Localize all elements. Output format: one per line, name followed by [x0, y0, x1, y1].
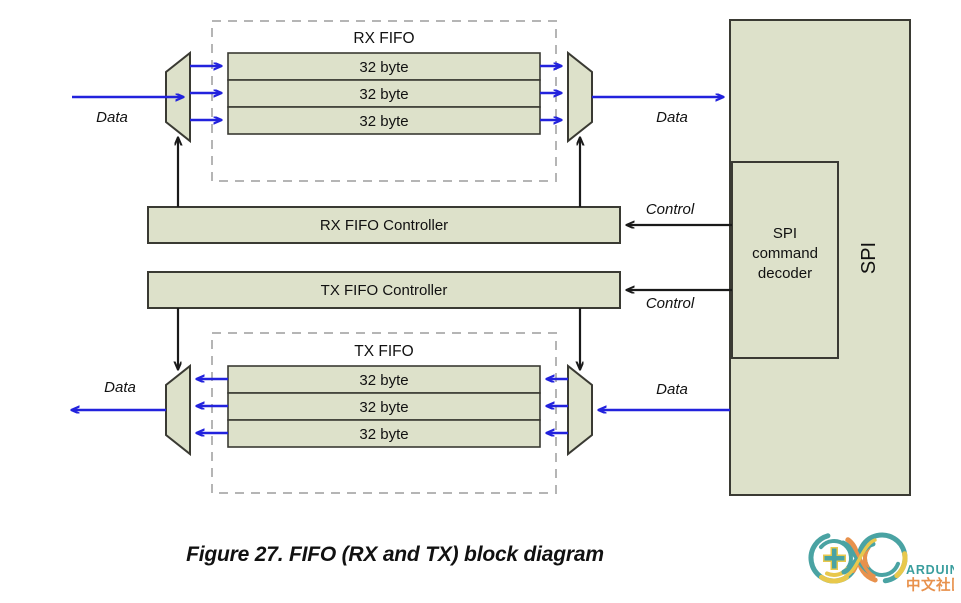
tx-fifo-controller-label: TX FIFO Controller — [321, 282, 448, 299]
logo-minus-icon — [872, 555, 893, 562]
spi-command-decoder: SPI command decoder — [732, 162, 838, 358]
arduino-community-logo: ARDUINO 中文社区 — [806, 527, 954, 597]
spi-decoder-line3: decoder — [758, 265, 812, 282]
tx-output-mux — [166, 366, 190, 454]
rx-fifo-row-label: 32 byte — [359, 86, 408, 103]
logo-infinity-mark — [806, 527, 914, 590]
rx-control-label: Control — [646, 201, 695, 218]
tx-data-out-label: Data — [104, 379, 136, 396]
tx-fifo-group: TX FIFO 32 byte 32 byte 32 byte — [212, 333, 556, 493]
rx-data-in-label: Data — [96, 109, 128, 126]
rx-fifo-row-label: 32 byte — [359, 113, 408, 130]
logo-subtitle: 中文社区 — [906, 576, 954, 594]
tx-fifo-rows: 32 byte 32 byte 32 byte — [228, 366, 540, 447]
spi-decoder-line1: SPI — [773, 225, 797, 242]
tx-fifo-controller: TX FIFO Controller — [148, 272, 620, 308]
tx-control-label: Control — [646, 295, 695, 312]
rx-fifo-rows: 32 byte 32 byte 32 byte — [228, 53, 540, 134]
figure-caption: Figure 27. FIFO (RX and TX) block diagra… — [0, 543, 790, 567]
spi-decoder-line2: command — [752, 245, 818, 262]
logo-wordmark: ARDUINO — [906, 563, 954, 577]
rx-data-out-label: Data — [656, 109, 688, 126]
rx-fifo-group: RX FIFO 32 byte 32 byte 32 byte — [212, 21, 556, 181]
rx-fifo-row-label: 32 byte — [359, 59, 408, 76]
logo-plus-icon — [823, 547, 846, 570]
fifo-block-diagram: SPI SPI command decoder RX FIFO 32 byte … — [0, 0, 961, 603]
tx-fifo-row-label: 32 byte — [359, 372, 408, 389]
tx-fifo-group-title: TX FIFO — [354, 343, 413, 360]
rx-fifo-controller-label: RX FIFO Controller — [320, 217, 448, 234]
tx-fifo-row-label: 32 byte — [359, 399, 408, 416]
figure-container: SPI SPI command decoder RX FIFO 32 byte … — [0, 0, 961, 603]
rx-fifo-controller: RX FIFO Controller — [148, 207, 620, 243]
rx-output-mux — [568, 53, 592, 141]
rx-fifo-group-title: RX FIFO — [353, 30, 414, 47]
spi-block-label: SPI — [858, 242, 880, 274]
tx-fifo-row-label: 32 byte — [359, 426, 408, 443]
tx-data-in-label: Data — [656, 381, 688, 398]
tx-input-mux — [568, 366, 592, 454]
